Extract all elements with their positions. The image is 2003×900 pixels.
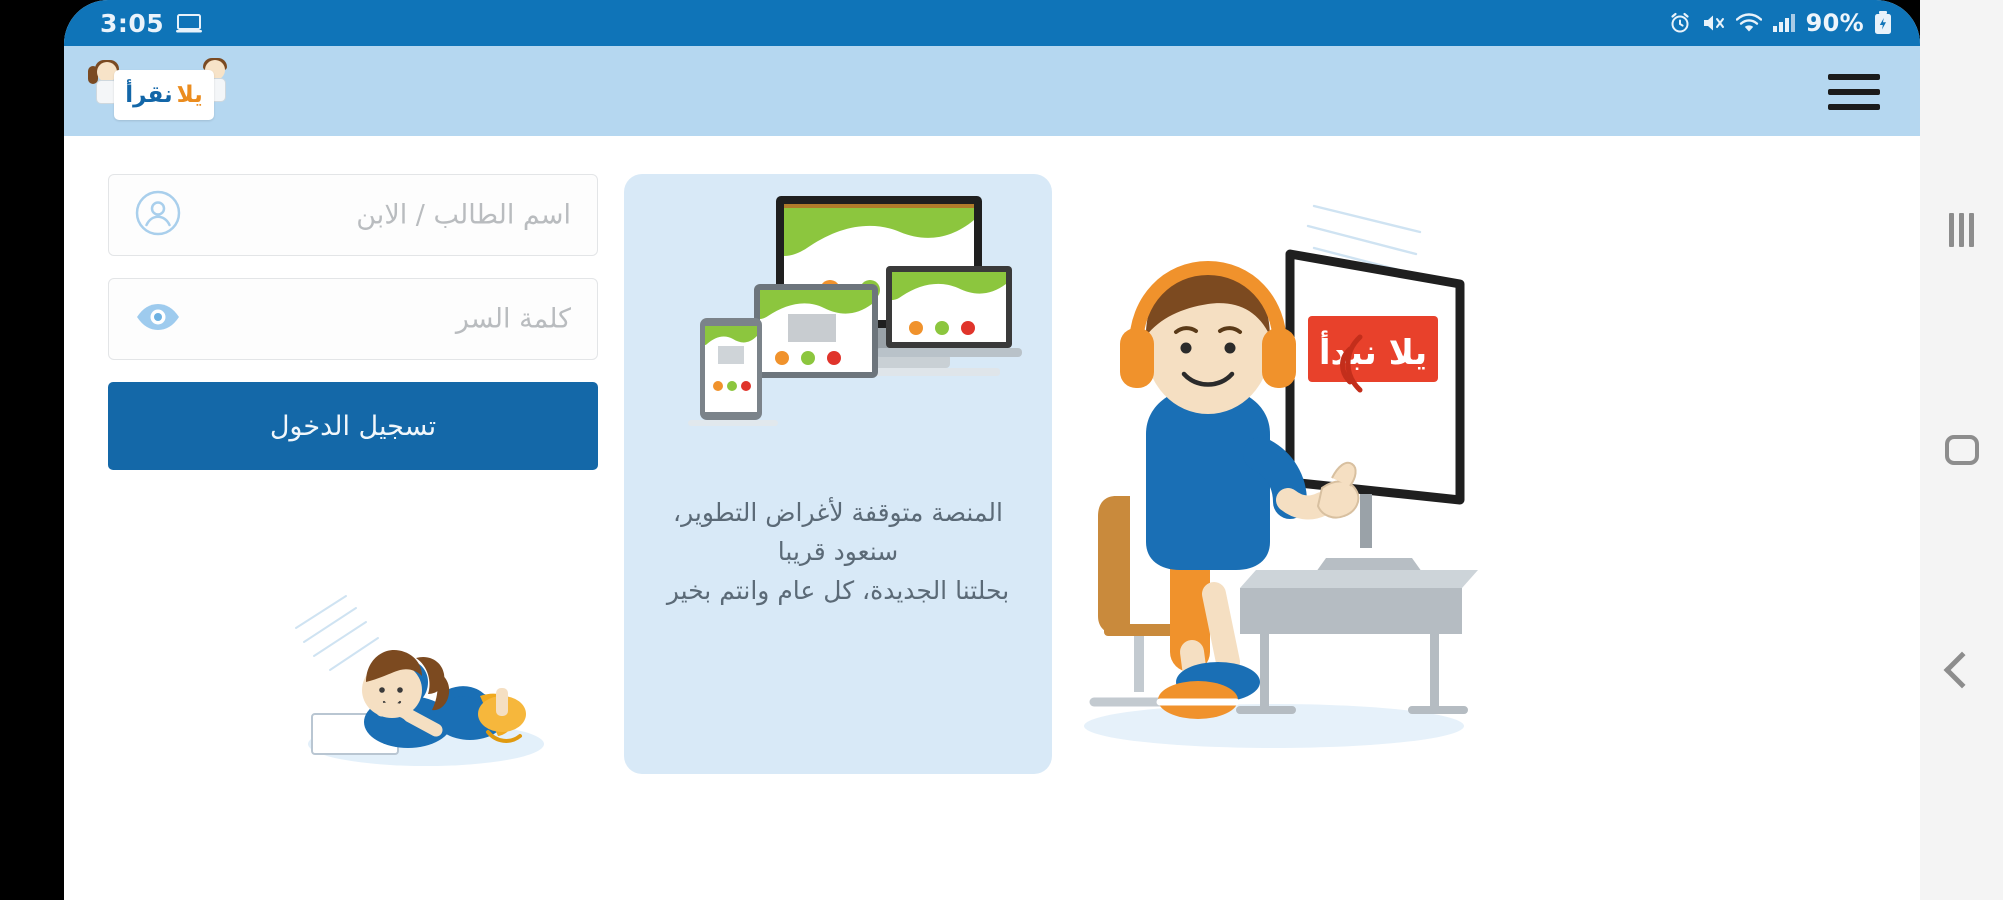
- hamburger-menu-icon[interactable]: [1828, 74, 1880, 110]
- status-bar-left: 3:05: [100, 9, 202, 38]
- username-field[interactable]: اسم الطالب / الابن: [108, 174, 598, 256]
- logo-wordmark: يلا نقرأ: [114, 70, 214, 120]
- notice-line-1: المنصة متوقفة لأغراض التطوير، سنعود قريب…: [642, 494, 1034, 572]
- logo-text-orange: يلا: [177, 84, 203, 107]
- maintenance-notice-card: المنصة متوقفة لأغراض التطوير، سنعود قريب…: [624, 174, 1052, 774]
- hamburger-bar: [1828, 89, 1880, 95]
- wifi-icon: [1736, 13, 1762, 33]
- screen-cast-icon: [176, 13, 202, 33]
- android-navigation-bar: [1920, 0, 2003, 900]
- status-bar-right: 90%: [1668, 9, 1892, 37]
- alarm-icon: [1668, 11, 1692, 35]
- status-time: 3:05: [100, 9, 164, 38]
- mute-icon: [1702, 12, 1726, 34]
- status-bar: 3:05 90%: [64, 0, 1920, 46]
- battery-percent: 90%: [1806, 9, 1864, 37]
- signal-icon: [1772, 13, 1796, 33]
- login-form: اسم الطالب / الابن كلمة السر تسجيل الدخو…: [108, 174, 598, 470]
- maintenance-notice-text: المنصة متوقفة لأغراض التطوير، سنعود قريب…: [642, 494, 1034, 610]
- hamburger-bar: [1828, 74, 1880, 80]
- username-placeholder: اسم الطالب / الابن: [356, 200, 571, 231]
- device-viewport: 3:05 90%: [64, 0, 1920, 900]
- girl-reading-illustration: [274, 566, 574, 776]
- boy-at-computer-illustration: يلا نبدأ: [1064, 196, 1484, 756]
- password-field[interactable]: كلمة السر: [108, 278, 598, 360]
- eye-icon[interactable]: [135, 301, 181, 337]
- user-icon: [135, 190, 181, 240]
- screenshot-root: 3:05 90%: [0, 0, 2003, 900]
- recents-icon[interactable]: [1932, 200, 1992, 260]
- responsive-devices-illustration: [648, 188, 1028, 488]
- back-icon[interactable]: [1932, 640, 1992, 700]
- battery-icon: [1874, 11, 1892, 35]
- page-content: اسم الطالب / الابن كلمة السر تسجيل الدخو…: [64, 136, 1920, 900]
- hamburger-bar: [1828, 104, 1880, 110]
- cta-badge-label: يلا نبدأ: [1319, 330, 1427, 373]
- logo-text-blue: نقرأ: [125, 84, 172, 107]
- notice-line-2: بحلتنا الجديدة، كل عام وانتم بخير: [642, 572, 1034, 611]
- home-icon[interactable]: [1932, 420, 1992, 480]
- app-header: يلا نقرأ: [64, 46, 1920, 136]
- password-placeholder: كلمة السر: [456, 304, 571, 335]
- app-logo[interactable]: يلا نقرأ: [92, 54, 232, 126]
- login-submit-button[interactable]: تسجيل الدخول: [108, 382, 598, 470]
